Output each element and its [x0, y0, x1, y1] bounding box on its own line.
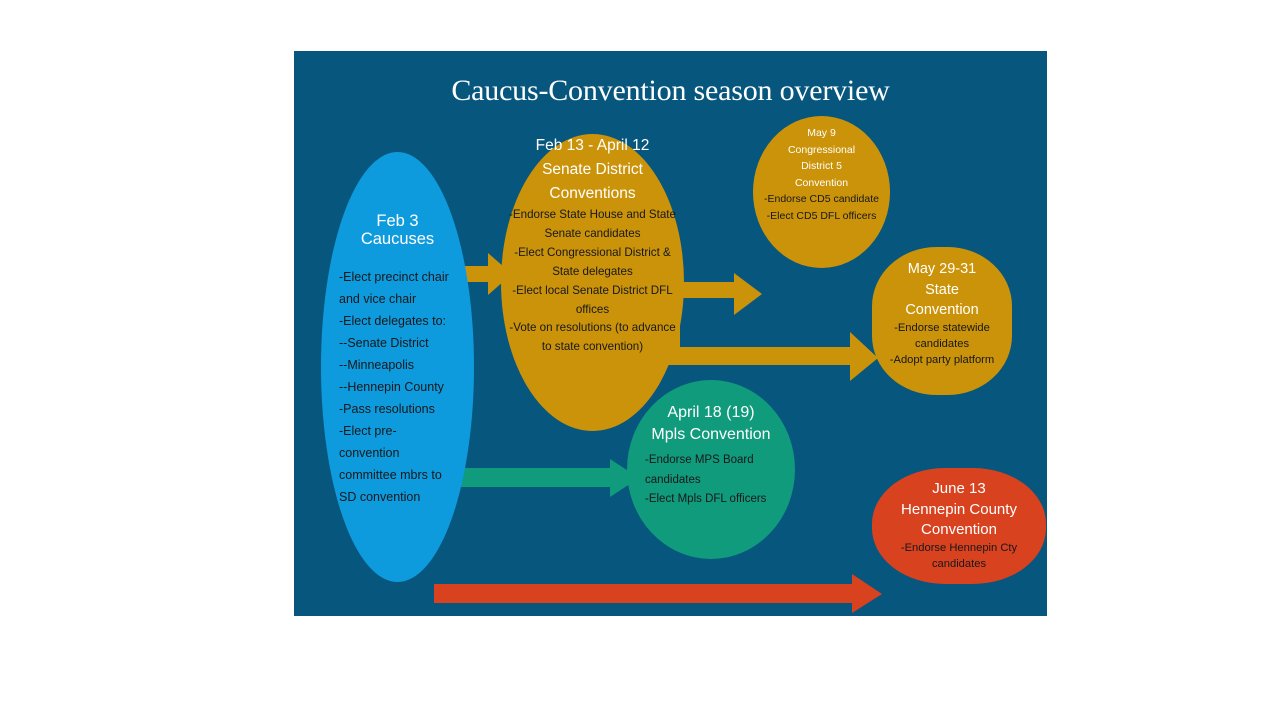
node-cd5-body: -Endorse CD5 candidate-Elect CD5 DFL off… — [753, 191, 890, 224]
node-hennepin-body: -Endorse Hennepin Cty candidates — [872, 541, 1046, 572]
node-hennepin-heading: June 13Hennepin CountyConvention — [872, 468, 1046, 541]
node-state-body: -Endorse statewide candidates-Adopt part… — [872, 321, 1012, 369]
arrow-senate-district-to-state — [658, 297, 880, 381]
node-mpls-heading: April 18 (19)Mpls Convention — [627, 380, 795, 447]
node-state-heading: May 29-31StateConvention — [872, 247, 1012, 321]
node-senate-district-body: -Endorse State House and State Senate ca… — [501, 206, 684, 357]
page-title: Caucus-Convention season overview — [294, 74, 1047, 108]
presentation-slide: Caucus-Convention season overview Feb 3C… — [294, 51, 1047, 616]
node-caucuses-heading: Feb 3Caucuses — [321, 152, 474, 249]
node-caucuses-body: -Elect precinct chair and vice chair-Ele… — [321, 249, 474, 508]
node-caucuses[interactable]: Feb 3Caucuses -Elect precinct chair and … — [321, 152, 474, 582]
node-mpls-body: -Endorse MPS Board candidates-Elect Mpls… — [627, 447, 795, 510]
arrow-caucuses-to-hennepin — [434, 574, 884, 614]
screenshot-canvas: Caucus-Convention season overview Feb 3C… — [0, 0, 1280, 720]
node-hennepin-county-convention[interactable]: June 13Hennepin CountyConvention -Endors… — [872, 468, 1046, 584]
node-mpls-convention[interactable]: April 18 (19)Mpls Convention -Endorse MP… — [627, 380, 795, 559]
node-senate-district-heading: Feb 13 - April 12Senate DistrictConventi… — [501, 134, 684, 206]
node-congressional-district-5-convention[interactable]: May 9CongressionalDistrict 5Convention -… — [753, 116, 890, 268]
node-state-convention[interactable]: May 29-31StateConvention -Endorse statew… — [872, 247, 1012, 395]
node-cd5-heading: May 9CongressionalDistrict 5Convention — [753, 116, 890, 191]
